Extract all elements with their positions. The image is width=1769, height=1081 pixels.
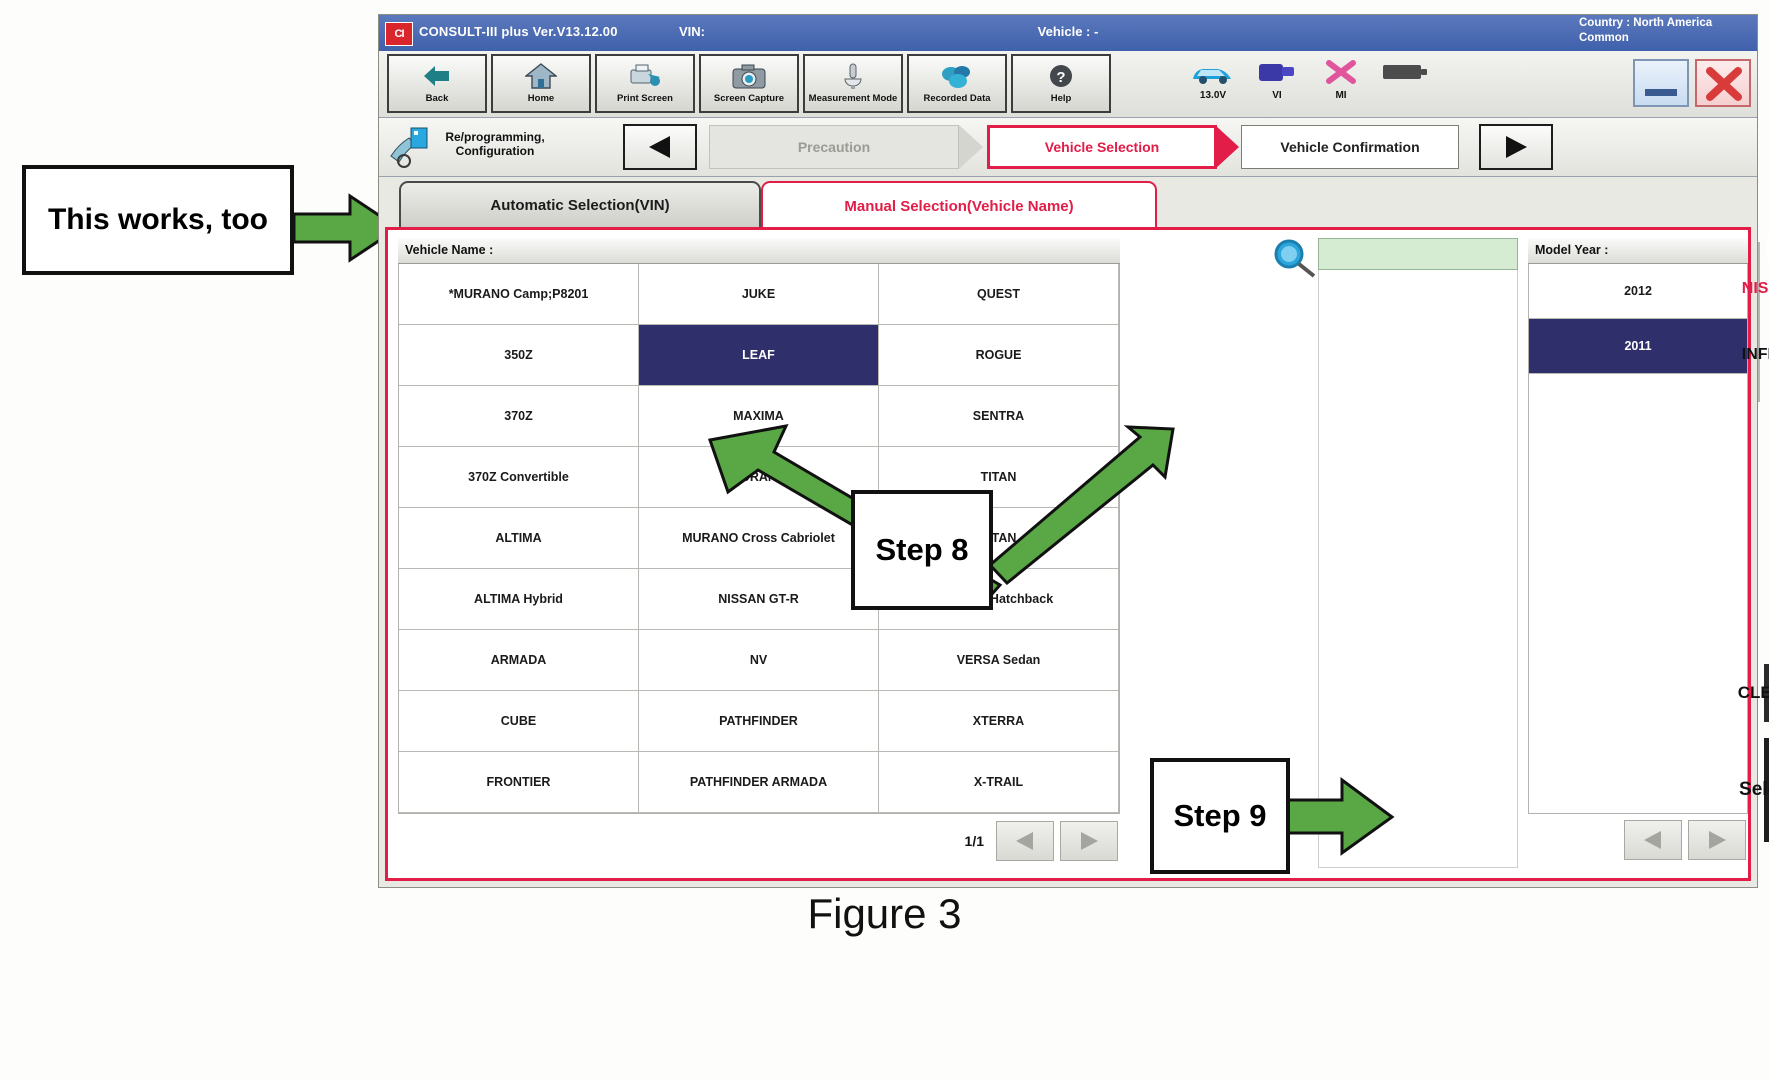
selection-tabs: Automatic Selection(VIN) Manual Selectio… bbox=[385, 181, 1751, 229]
home-icon bbox=[493, 56, 589, 93]
breadcrumb-prev-button[interactable] bbox=[623, 124, 697, 170]
left-triangle-icon bbox=[646, 134, 674, 160]
vehicle-cell[interactable]: X-TRAIL bbox=[879, 752, 1119, 813]
status-vi: VI bbox=[1245, 54, 1309, 113]
arrow-step9-to-select bbox=[1286, 775, 1396, 857]
vehicle-cell[interactable]: CUBE bbox=[399, 691, 639, 752]
clear-button-label: CLEAR bbox=[1738, 683, 1769, 703]
close-button[interactable] bbox=[1695, 59, 1751, 107]
left-triangle-icon bbox=[1641, 829, 1665, 851]
back-arrow-icon bbox=[389, 56, 485, 93]
vehicle-grid-page-indicator: 1/1 bbox=[965, 833, 984, 849]
back-button[interactable]: Back bbox=[387, 54, 487, 113]
vehicle-cell[interactable]: FRONTIER bbox=[399, 752, 639, 813]
breadcrumb-step-precaution-label: Precaution bbox=[798, 139, 870, 155]
select-button[interactable]: Select bbox=[1764, 738, 1769, 842]
clear-button[interactable]: CLEAR bbox=[1764, 664, 1769, 722]
breadcrumb-step-vehicle-confirmation-label: Vehicle Confirmation bbox=[1280, 139, 1419, 155]
figure-caption: Figure 3 bbox=[0, 890, 1769, 938]
breadcrumb-step-vehicle-selection-label: Vehicle Selection bbox=[1045, 139, 1159, 155]
print-screen-button[interactable]: Print Screen bbox=[595, 54, 695, 113]
vehicle-cell[interactable]: 350Z bbox=[399, 325, 639, 386]
home-button-label: Home bbox=[493, 94, 589, 104]
country-label: Country : North America Common bbox=[1579, 16, 1751, 46]
arrow-step8-to-model-year bbox=[985, 425, 1180, 585]
vehicle-grid-next-page-button[interactable] bbox=[1060, 821, 1118, 861]
model-year-prev-page-button[interactable] bbox=[1624, 820, 1682, 860]
magnifier-icon[interactable] bbox=[1272, 238, 1316, 282]
help-button-label: Help bbox=[1013, 94, 1109, 104]
reprogramming-icon bbox=[387, 126, 431, 168]
vi-icon bbox=[1245, 54, 1309, 90]
print-screen-button-label: Print Screen bbox=[597, 94, 693, 104]
title-bar: CI CONSULT-III plus Ver.V13.12.00 VIN: V… bbox=[379, 15, 1757, 51]
tab-automatic-selection-vin-label: Automatic Selection(VIN) bbox=[490, 197, 669, 214]
model-year-row[interactable]: 2012 bbox=[1529, 264, 1747, 319]
battery-icon bbox=[1373, 54, 1437, 90]
back-button-label: Back bbox=[389, 94, 485, 104]
print-screen-icon bbox=[597, 56, 693, 93]
callout-step-8-text: Step 8 bbox=[875, 532, 968, 568]
main-toolbar: Back Home Print Screen Screen Capture Me… bbox=[379, 51, 1757, 118]
model-year-list[interactable]: 20122011 bbox=[1528, 264, 1748, 814]
status-mi-label: MI bbox=[1309, 90, 1373, 101]
vehicle-cell[interactable]: ARMADA bbox=[399, 630, 639, 691]
left-triangle-icon bbox=[1013, 830, 1037, 852]
vehicle-cell[interactable]: XTERRA bbox=[879, 691, 1119, 752]
callout-step-8: Step 8 bbox=[851, 490, 993, 610]
tab-manual-selection-vehicle-name[interactable]: Manual Selection(Vehicle Name) bbox=[761, 181, 1157, 229]
vehicle-cell[interactable]: JUKE bbox=[639, 264, 879, 325]
vehicle-grid-prev-page-button[interactable] bbox=[996, 821, 1054, 861]
vehicle-cell[interactable]: LEAF bbox=[639, 325, 879, 386]
screen-capture-button-label: Screen Capture bbox=[701, 94, 797, 104]
vehicle-cell[interactable]: *MURANO Camp;P8201 bbox=[399, 264, 639, 325]
vehicle-cell[interactable]: NV bbox=[639, 630, 879, 691]
home-button[interactable]: Home bbox=[491, 54, 591, 113]
help-button[interactable]: ? Help bbox=[1011, 54, 1111, 113]
car-icon bbox=[1181, 54, 1245, 90]
callout-step-9-text: Step 9 bbox=[1173, 798, 1266, 834]
callout-this-works-too-text: This works, too bbox=[48, 203, 268, 238]
vehicle-cell[interactable]: VERSA Sedan bbox=[879, 630, 1119, 691]
breadcrumb-chevron-2 bbox=[1215, 125, 1239, 169]
recorded-data-button[interactable]: Recorded Data bbox=[907, 54, 1007, 113]
vehicle-cell[interactable]: QUEST bbox=[879, 264, 1119, 325]
tab-manual-selection-vehicle-name-label: Manual Selection(Vehicle Name) bbox=[844, 198, 1073, 215]
vehicle-name-header: Vehicle Name : bbox=[398, 238, 1120, 264]
model-year-pager bbox=[1624, 820, 1746, 862]
svg-text:?: ? bbox=[1056, 69, 1065, 86]
callout-step-9: Step 9 bbox=[1150, 758, 1290, 874]
vehicle-cell[interactable]: ROGUE bbox=[879, 325, 1119, 386]
camera-icon bbox=[701, 56, 797, 93]
recorded-data-button-label: Recorded Data bbox=[909, 94, 1005, 104]
mi-icon bbox=[1309, 54, 1373, 90]
model-year-section: Model Year : 20122011 bbox=[1528, 238, 1748, 868]
select-button-label: Select bbox=[1739, 779, 1769, 801]
recorded-data-icon bbox=[909, 56, 1005, 93]
vehicle-cell[interactable]: ALTIMA Hybrid bbox=[399, 569, 639, 630]
vehicle-label: Vehicle : - bbox=[379, 24, 1757, 39]
vehicle-cell[interactable]: 370Z Convertible bbox=[399, 447, 639, 508]
vehicle-cell[interactable]: PATHFINDER ARMADA bbox=[639, 752, 879, 813]
right-triangle-icon bbox=[1705, 829, 1729, 851]
screen-capture-button[interactable]: Screen Capture bbox=[699, 54, 799, 113]
measurement-mode-button[interactable]: Measurement Mode bbox=[803, 54, 903, 113]
status-voltage: 13.0V bbox=[1181, 54, 1245, 113]
minimize-icon bbox=[1645, 89, 1677, 96]
vehicle-cell[interactable]: ALTIMA bbox=[399, 508, 639, 569]
sales-channel-groupbox: Sales Channel NISSAN INFINITI bbox=[1758, 242, 1760, 402]
probe-icon bbox=[805, 56, 901, 93]
right-triangle-icon bbox=[1077, 830, 1101, 852]
model-year-header: Model Year : bbox=[1528, 238, 1748, 264]
status-vi-label: VI bbox=[1245, 90, 1309, 101]
measurement-mode-button-label: Measurement Mode bbox=[805, 94, 901, 104]
vehicle-grid-pager: 1/1 bbox=[965, 820, 1118, 862]
vehicle-cell[interactable]: 370Z bbox=[399, 386, 639, 447]
right-triangle-icon bbox=[1502, 134, 1530, 160]
search-input[interactable] bbox=[1318, 238, 1518, 270]
breadcrumb-step-vehicle-selection[interactable]: Vehicle Selection bbox=[987, 125, 1217, 169]
sales-channel-nissan-label: NISSAN bbox=[1742, 280, 1769, 298]
workflow-mode-label: Re/programming, Configuration bbox=[435, 130, 555, 158]
workflow-breadcrumb-bar: Re/programming, Configuration Precaution… bbox=[379, 118, 1757, 177]
breadcrumb-step-precaution[interactable]: Precaution bbox=[709, 125, 959, 169]
status-voltage-label: 13.0V bbox=[1181, 90, 1245, 101]
close-icon bbox=[1703, 65, 1745, 103]
callout-this-works-too: This works, too bbox=[22, 165, 294, 275]
status-battery bbox=[1373, 54, 1437, 113]
status-mi: MI bbox=[1309, 54, 1373, 113]
breadcrumb-step-vehicle-confirmation[interactable]: Vehicle Confirmation bbox=[1241, 125, 1459, 169]
tab-automatic-selection-vin[interactable]: Automatic Selection(VIN) bbox=[399, 181, 761, 229]
vehicle-cell[interactable]: PATHFINDER bbox=[639, 691, 879, 752]
breadcrumb-chevron-1 bbox=[959, 125, 983, 169]
model-year-row[interactable]: 2011 bbox=[1529, 319, 1747, 374]
minimize-button[interactable] bbox=[1633, 59, 1689, 107]
model-year-next-page-button[interactable] bbox=[1688, 820, 1746, 860]
sales-channel-infiniti-label: INFINITI bbox=[1742, 346, 1769, 364]
help-icon: ? bbox=[1013, 56, 1109, 93]
breadcrumb-next-button[interactable] bbox=[1479, 124, 1553, 170]
